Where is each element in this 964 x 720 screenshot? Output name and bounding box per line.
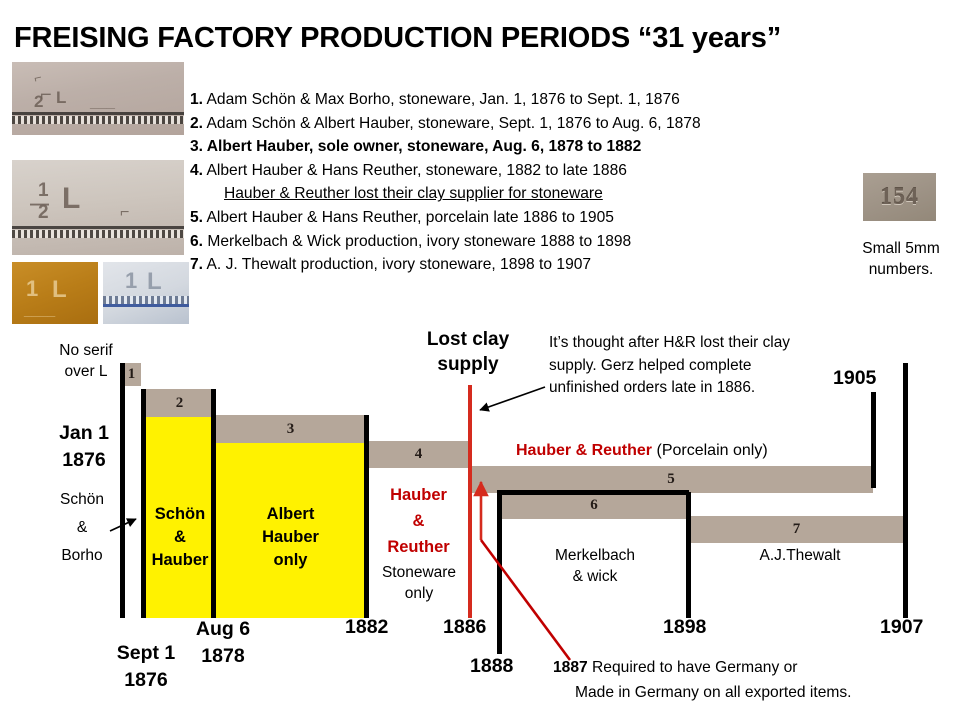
date-label-sept1-1876: Sept 1 1876 [100,640,192,694]
date-label-jan1-1876: Jan 1 1876 [48,420,120,474]
date-label-1898: 1898 [663,616,706,639]
label-line: Merkelbach [520,545,670,566]
list-item: 1. Adam Schön & Max Borho, stoneware, Ja… [190,88,850,112]
label-line: & [371,508,466,534]
list-item-text: Merkelbach & Wick production, ivory ston… [207,233,631,250]
no-serif-caption: No serif over L [44,340,128,382]
date-label-1905: 1905 [833,367,876,390]
list-item-text: Adam Schön & Albert Hauber, stoneware, S… [207,115,701,132]
label-line: Schön [44,486,120,514]
date-label-1907: 1907 [880,616,923,639]
list-item-text: Albert Hauber & Hans Reuther, stoneware,… [207,162,627,179]
lost-clay-supply-label: Lost clay supply [404,327,532,377]
chart-bar-3-number: 3 [287,421,295,438]
mark-photo-1: ⌐ ⌐ 2 L ___ [12,62,184,135]
mark-photo-3: 1 L ____ [12,262,98,324]
caption-line: No serif [44,340,128,361]
list-item-number: 3. [190,138,203,155]
label-line: Hauber [371,482,466,508]
gerz-note: It’s thought after H&R lost their clay s… [549,332,813,400]
page-title: FREISING FACTORY PRODUCTION PERIODS “31 … [14,22,954,55]
label-line: Albert [213,503,368,526]
list-item-number: 5. [190,209,203,226]
axis-line-1888 [497,492,502,654]
date-label-1888: 1888 [470,655,513,678]
production-periods-list: 1. Adam Schön & Max Borho, stoneware, Ja… [190,88,850,277]
axis-line-1907 [903,363,908,618]
porcelain-legend-red: Hauber & Reuther [516,442,652,459]
list-item-number: 2. [190,115,203,132]
label-line: Reuther [371,534,466,560]
hauber-reuther-stoneware-label: Hauber & Reuther [371,482,466,560]
date-line: Jan 1 [48,420,120,447]
list-item-text: Albert Hauber & Hans Reuther, porcelain … [207,209,614,226]
thewalt-label: A.J.Thewalt [720,545,880,566]
label-line: Borho [44,542,120,570]
chart-bar-5-number: 5 [667,471,675,488]
caption-line: over L [44,361,128,382]
list-item: 5. Albert Hauber & Hans Reuther, porcela… [190,206,850,230]
arrow-gerz-note [480,387,545,410]
axis-line-1905 [871,392,876,488]
chart-bar-2: 2 [143,389,216,417]
label-line: only [213,549,368,572]
footnote-line1: Required to have Germany or [588,659,798,676]
list-item: 3. Albert Hauber, sole owner, stoneware,… [190,135,850,159]
footnote-year: 1887 [553,659,588,676]
list-item-number: 6. [190,233,203,250]
date-label-aug6-1878: Aug 6 1878 [183,616,263,670]
number-stamp-photo: 154 [863,173,936,221]
list-item-text: Albert Hauber, sole owner, stoneware, Au… [207,138,641,155]
list-item-number: 7. [190,256,203,273]
axis-line-sept1-1876 [141,389,146,618]
chart-bar-7-number: 7 [793,521,801,538]
list-item-number: 1. [190,91,203,108]
yellow-label-albert-hauber: Albert Hauber only [213,503,368,572]
label-line: & [140,526,220,549]
chart-bar-2-number: 2 [176,395,184,412]
chart-bar-3: 3 [213,415,368,444]
date-line: 1878 [183,643,263,670]
porcelain-legend-black: (Porcelain only) [656,442,767,459]
chart-bar-4: 4 [366,441,471,468]
stamp-caption: Small 5mm numbers. [851,238,951,280]
chart-bar-4-number: 4 [415,446,423,463]
list-item-text: Adam Schön & Max Borho, stoneware, Jan. … [207,91,680,108]
date-label-1882: 1882 [345,616,388,639]
list-item: 6. Merkelbach & Wick production, ivory s… [190,230,850,254]
chart-bar-6-number: 6 [590,497,598,514]
stoneware-only-label: Stoneware only [367,562,471,604]
date-line: Sept 1 [100,640,192,667]
list-item-text: A. J. Thewalt production, ivory stonewar… [207,256,592,273]
footnote-1887: 1887 Required to have Germany or Made in… [553,655,953,705]
mark-photo-4: 1 L [103,262,189,324]
stamp-caption-line1: Small 5mm [851,238,951,259]
axis-line-aug6-1878 [211,389,216,618]
label-line: Lost clay [404,327,532,352]
merkelbach-wick-label: Merkelbach & wick [520,545,670,587]
list-note: Hauber & Reuther lost their clay supplie… [224,182,850,206]
label-line: & wick [520,566,670,587]
list-item: 4. Albert Hauber & Hans Reuther, stonewa… [190,159,850,183]
list-item: 7. A. J. Thewalt production, ivory stone… [190,253,850,277]
yellow-label-schon-hauber: Schön & Hauber [140,503,220,572]
axis-line-jan1-1876 [120,363,125,618]
footnote-line2: Made in Germany on all exported items. [575,680,953,705]
label-line: Stoneware [367,562,471,583]
chart-bar-5: 5 [469,466,873,493]
label-line: only [367,583,471,604]
label-line: supply [404,352,532,377]
label-line: Hauber [140,549,220,572]
schon-borho-label: Schön & Borho [44,486,120,570]
date-line: Aug 6 [183,616,263,643]
label-line: Schön [140,503,220,526]
mark-photo-2: 1 — 2 L ⌐ [12,160,184,255]
stamp-caption-line2: numbers. [851,259,951,280]
stamp-number-text: 154 [863,173,936,221]
label-line: Hauber [213,526,368,549]
date-line: 1876 [100,667,192,694]
chart-bar-1-number: 1 [128,366,136,383]
axis-line-1898 [686,492,691,618]
date-label-1886: 1886 [443,616,486,639]
list-item: 2. Adam Schön & Albert Hauber, stoneware… [190,112,850,136]
label-line: & [44,514,120,542]
chart-bar-6: 6 [499,492,689,519]
chart-bar-7: 7 [688,516,905,543]
bar-6-top-connector [497,490,689,495]
date-line: 1876 [48,447,120,474]
list-item-number: 4. [190,162,203,179]
porcelain-legend: Hauber & Reuther (Porcelain only) [516,442,768,460]
